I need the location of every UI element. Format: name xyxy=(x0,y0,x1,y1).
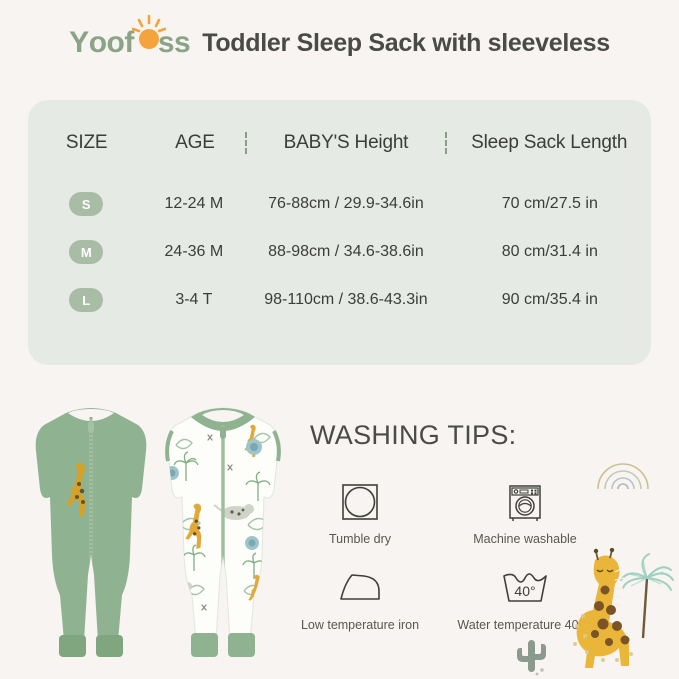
leg-cuff-left xyxy=(191,633,218,657)
leg-cuff-right xyxy=(96,635,123,657)
printed-leopard xyxy=(166,582,192,595)
table-row: M 24-36 M 88-98cm / 34.6-38.6in 80 cm/31… xyxy=(28,240,651,264)
cell-length: 90 cm/35.4 in xyxy=(449,291,651,309)
water-temperature-icon: 40° xyxy=(499,564,551,612)
logo-text-of: of xyxy=(107,26,134,60)
size-badge-cell: S xyxy=(28,192,145,216)
column-header-size: SIZE xyxy=(28,132,145,154)
washing-tip-label: Machine washable xyxy=(473,532,577,546)
size-badge-cell: M xyxy=(28,240,145,264)
logo-text-y: Y xyxy=(69,26,89,60)
giraffe-body xyxy=(577,548,630,668)
cell-height: 76-88cm / 29.9-34.6in xyxy=(247,195,444,213)
machine-washable-icon xyxy=(503,478,547,526)
washing-tip-low-temperature-iron: Low temperature iron xyxy=(285,564,435,632)
status-badge: L xyxy=(69,288,103,312)
washing-tips-title: WASHING TIPS: xyxy=(310,420,516,451)
printed-turtle xyxy=(246,439,262,455)
header-divider-2 xyxy=(445,132,447,154)
leg-cuff-right xyxy=(228,633,255,657)
product-image-jungle-sleep-sack xyxy=(158,405,288,665)
cell-length: 80 cm/31.4 in xyxy=(449,243,651,261)
header-divider-1 xyxy=(245,132,247,154)
tumble-dry-icon xyxy=(339,478,381,526)
product-images xyxy=(18,405,298,670)
printed-turtle xyxy=(165,466,179,480)
size-chart-panel: SIZE AGE BABY'S Height Sleep Sack Length… xyxy=(28,100,651,365)
cell-age: 12-24 M xyxy=(145,195,244,213)
table-row: L 3-4 T 98-110cm / 38.6-43.3in 90 cm/35.… xyxy=(28,288,651,312)
page-title: Toddler Sleep Sack with sleeveless xyxy=(202,29,610,58)
rainbow-decor xyxy=(592,437,654,499)
cactus-decor xyxy=(512,632,552,676)
status-badge: M xyxy=(69,240,103,264)
size-badge-cell: L xyxy=(28,288,145,312)
brand-logo: Y o of ss xyxy=(69,26,190,60)
cell-height: 98-110cm / 38.6-43.3in xyxy=(247,291,444,309)
table-header-row: SIZE AGE BABY'S Height Sleep Sack Length xyxy=(28,132,651,154)
washing-tip-label: Tumble dry xyxy=(329,532,391,546)
printed-turtle xyxy=(245,536,259,550)
header: Y o of ss Toddler Sleep Sack with sleeve… xyxy=(0,26,679,60)
low-temperature-iron-icon xyxy=(336,564,384,612)
washing-tip-machine-washable: Machine washable xyxy=(435,478,615,546)
column-header-age: AGE xyxy=(145,132,244,154)
washing-tip-tumble-dry: Tumble dry xyxy=(285,478,435,546)
palm-tree-decor xyxy=(621,554,673,638)
size-chart-table: SIZE AGE BABY'S Height Sleep Sack Length… xyxy=(28,100,651,365)
washing-tip-label: Low temperature iron xyxy=(301,618,419,632)
giraffe-palm-decor xyxy=(565,548,679,676)
cell-height: 88-98cm / 34.6-38.6in xyxy=(247,243,444,261)
status-badge: S xyxy=(69,192,103,216)
product-image-green-sleep-sack xyxy=(26,405,156,665)
column-header-length: Sleep Sack Length xyxy=(447,132,651,154)
water-temperature-value: 40° xyxy=(514,583,535,599)
cell-age: 24-36 M xyxy=(145,243,244,261)
logo-text-oo: o xyxy=(89,26,107,60)
cell-length: 70 cm/27.5 in xyxy=(449,195,651,213)
cell-age: 3-4 T xyxy=(145,291,244,309)
product-infographic: Y o of ss Toddler Sleep Sack with sleeve… xyxy=(0,0,679,679)
leg-cuff-left xyxy=(59,635,86,657)
table-row: S 12-24 M 76-88cm / 29.9-34.6in 70 cm/27… xyxy=(28,192,651,216)
sun-icon xyxy=(134,28,158,52)
column-header-height: BABY'S Height xyxy=(247,132,446,154)
